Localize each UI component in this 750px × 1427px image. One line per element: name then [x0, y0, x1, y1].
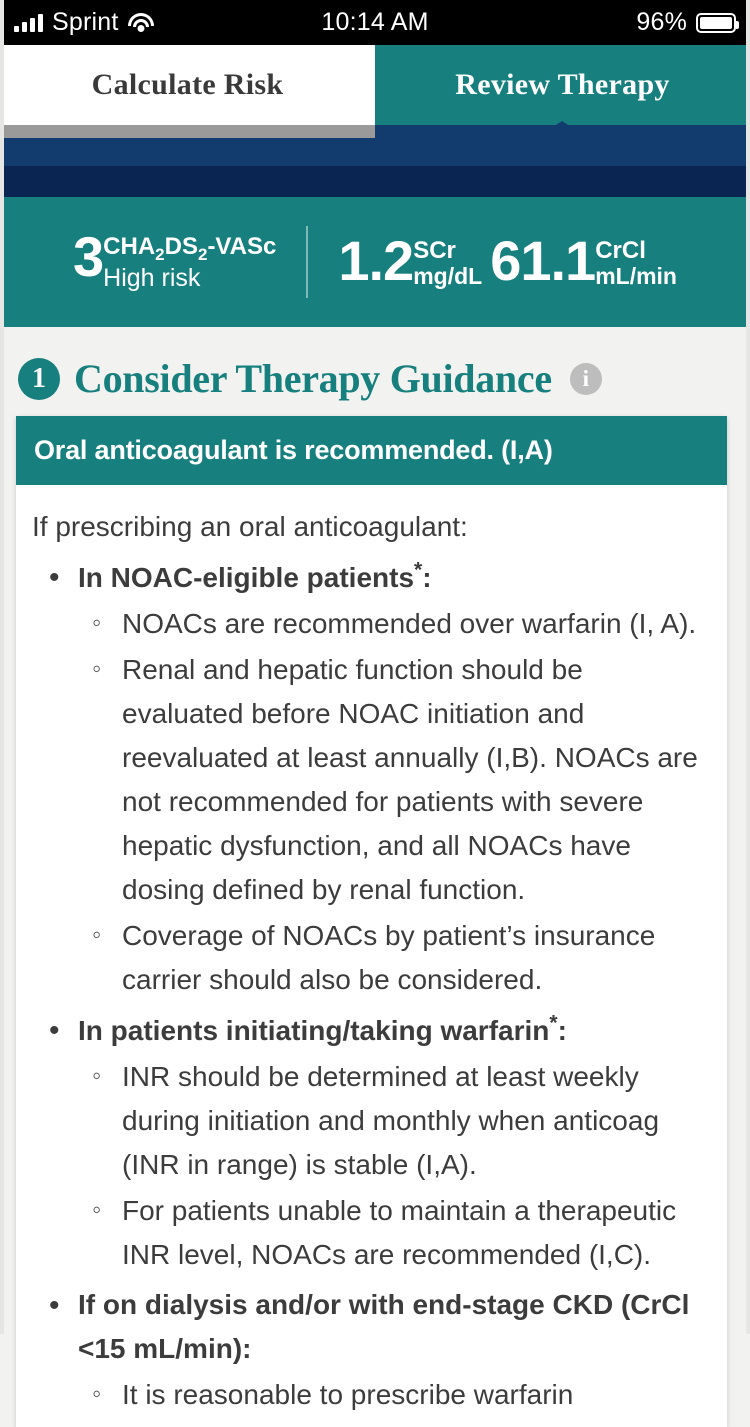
footnote-marker: *	[414, 559, 422, 582]
guidance-bullet: In NOAC-eligible patients*:NOACs are rec…	[32, 555, 711, 1002]
guidance-bullet-list: In NOAC-eligible patients*:NOACs are rec…	[32, 555, 711, 1417]
crcl-value: 61.1	[490, 235, 595, 287]
tab-review-therapy[interactable]: Review Therapy	[375, 45, 750, 125]
battery-percent-label: 96%	[636, 8, 687, 37]
status-bar: Sprint 10:14 AM 96%	[0, 0, 750, 45]
metric-chads-vasc[interactable]: 3 CHA2DS2-VASc High risk	[73, 231, 276, 292]
guidance-subbullet: For patients unable to maintain a therap…	[78, 1189, 711, 1277]
tab-review-therapy-label: Review Therapy	[455, 68, 669, 102]
tab-calculate-risk[interactable]: Calculate Risk	[0, 45, 375, 125]
info-icon[interactable]: i	[570, 363, 602, 395]
tab-calculate-risk-label: Calculate Risk	[92, 68, 284, 102]
guidance-subbullet: INR should be determined at least weekly…	[78, 1055, 711, 1187]
guidance-card-body: If prescribing an oral anticoagulant: In…	[16, 485, 727, 1427]
signal-bars-icon	[14, 14, 43, 32]
tab-scroll-indicator[interactable]	[0, 125, 375, 138]
guidance-bullet: In patients initiating/taking warfarin*:…	[32, 1008, 711, 1277]
guidance-card: Oral anticoagulant is recommended. (I,A)…	[16, 416, 727, 1427]
guidance-subbullet: It is reasonable to prescribe warfarin	[78, 1373, 711, 1417]
chads-vasc-labels: CHA2DS2-VASc High risk	[103, 231, 276, 292]
guidance-subbullet: Renal and hepatic function should be eva…	[78, 648, 711, 912]
section-heading: 1 Consider Therapy Guidance i	[0, 327, 750, 416]
metric-crcl[interactable]: 61.1 CrCl mL/min	[490, 235, 677, 290]
scr-labels: SCr mg/dL	[413, 235, 482, 290]
crcl-unit: mL/min	[595, 263, 677, 289]
metric-scr[interactable]: 1.2 SCr mg/dL	[338, 235, 482, 290]
chads-vasc-value: 3	[73, 231, 103, 283]
guidance-bullet-title: In NOAC-eligible patients*:	[78, 562, 432, 593]
scr-unit: mg/dL	[413, 263, 482, 289]
metrics-labs-group: 1.2 SCr mg/dL 61.1 CrCl mL/min	[338, 235, 677, 290]
guidance-card-header: Oral anticoagulant is recommended. (I,A)	[16, 416, 727, 485]
scr-value: 1.2	[338, 235, 413, 287]
page-title: Consider Therapy Guidance	[74, 355, 552, 402]
guidance-subbullet-list: It is reasonable to prescribe warfarin	[78, 1373, 711, 1417]
carrier-label: Sprint	[52, 8, 119, 37]
guidance-subbullet-list: INR should be determined at least weekly…	[78, 1055, 711, 1277]
navy-bar-dark	[0, 166, 750, 197]
guidance-bullet: If on dialysis and/or with end-stage CKD…	[32, 1283, 711, 1417]
footnote-marker: *	[549, 1012, 557, 1035]
tab-bar: Calculate Risk Review Therapy	[0, 45, 750, 125]
metrics-bar: 3 CHA2DS2-VASc High risk 1.2 SCr mg/dL 6…	[0, 197, 750, 327]
left-scroll-edge	[0, 0, 4, 1334]
status-bar-left: Sprint	[14, 8, 154, 37]
tab-underline	[0, 125, 750, 138]
active-tab-pointer-icon	[536, 121, 588, 138]
wifi-icon	[128, 13, 154, 32]
chads-vasc-name: CHA2DS2-VASc	[103, 234, 276, 264]
guidance-subbullet: Coverage of NOACs by patient’s insurance…	[78, 914, 711, 1002]
scr-label: SCr	[413, 238, 482, 263]
status-bar-right: 96%	[636, 8, 736, 37]
crcl-label: CrCl	[595, 238, 677, 263]
navy-bar	[0, 138, 750, 166]
crcl-labels: CrCl mL/min	[595, 235, 677, 290]
right-scroll-edge[interactable]	[746, 0, 750, 1334]
guidance-subbullet-list: NOACs are recommended over warfarin (I, …	[78, 602, 711, 1002]
guidance-subbullet: NOACs are recommended over warfarin (I, …	[78, 602, 711, 646]
chads-vasc-risk: High risk	[103, 264, 276, 293]
metrics-divider	[306, 226, 308, 298]
section-number-badge: 1	[18, 358, 60, 400]
battery-icon	[696, 13, 736, 33]
guidance-bullet-title: If on dialysis and/or with end-stage CKD…	[78, 1289, 689, 1364]
guidance-bullet-title: In patients initiating/taking warfarin*:	[78, 1015, 567, 1046]
guidance-lead-text: If prescribing an oral anticoagulant:	[32, 505, 711, 549]
